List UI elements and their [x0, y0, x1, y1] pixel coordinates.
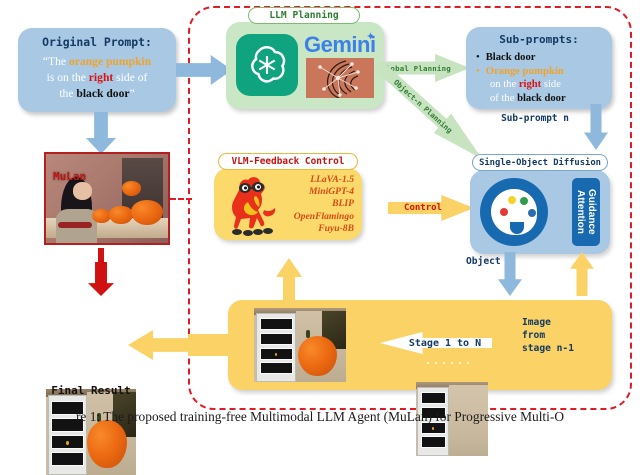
vlm-feedback-panel: LLaVA-1.5 MiniGPT-4 BLIP OpenFlamingo Fu…	[214, 168, 362, 240]
original-prompt-title: Original Prompt:	[18, 35, 176, 49]
door-panel	[48, 395, 88, 475]
sub-prompt-item-2-line2: on the right side	[476, 78, 608, 92]
palette-dot-blue	[528, 209, 536, 217]
image-from-stage-line-1: Image	[522, 316, 574, 329]
paint-palette-icon	[480, 178, 548, 246]
image-from-stage-line-2: from	[522, 329, 574, 342]
mulan-feedback-dashed-link	[170, 198, 192, 200]
sub-prompts-list: • Black door • Orange pumpkin on the rig…	[476, 51, 608, 105]
vlm-model-list: LLaVA-1.5 MiniGPT-4 BLIP OpenFlamingo Fu…	[270, 174, 354, 235]
door-slat	[260, 333, 293, 345]
stage-strip-panel: Stage 1 to N ...... Image from stage n-1	[228, 300, 612, 390]
sub-prompt-item-2-line3: of the black door	[476, 92, 608, 106]
vlm-model-item: LLaVA-1.5	[270, 174, 354, 186]
final-result-image	[46, 389, 136, 475]
sub-prompt-n-label: Sub-prompt n	[480, 113, 590, 124]
sub-prompt-text-2: Orange pumpkin	[486, 65, 564, 79]
palette-dot-green	[520, 197, 528, 205]
figure-caption: re 1: The proposed training-free Multimo…	[0, 409, 640, 425]
figure-canvas: Original Prompt: “The orange pumpkin is …	[0, 0, 640, 428]
stage-to-final-stem	[188, 334, 232, 356]
door-knob	[66, 441, 69, 445]
palette-dot-yellow	[508, 196, 516, 204]
mulan-pumpkin-shelf	[122, 181, 142, 196]
palette-dot-red	[500, 208, 508, 216]
llm-planning-pill: LLM Planning	[248, 7, 360, 24]
image-from-stage-label: Image from stage n-1	[522, 316, 574, 355]
stage-to-final-arrow	[128, 330, 194, 360]
prompt-to-mulan-arrow	[86, 112, 116, 154]
vlm-model-item: BLIP	[270, 198, 354, 210]
original-prompt-card: Original Prompt: “The orange pumpkin is …	[18, 28, 176, 112]
stage-image-with-pumpkin	[254, 308, 346, 382]
vlm-model-item: Fuyu-8B	[270, 223, 354, 235]
sub-prompts-card: Sub-prompts: • Black door • Orange pumpk…	[466, 27, 612, 109]
pumpkin-body	[298, 336, 337, 376]
mulan-label: MuLan	[53, 170, 86, 183]
door-panel	[256, 313, 296, 382]
door-slat	[260, 318, 293, 330]
original-prompt-line-2: is on the right side of	[18, 70, 176, 86]
original-prompt-line-3: the black door”	[18, 86, 176, 102]
gemini-sparkle-icon: ✦	[366, 30, 375, 43]
final-result-label: Final Result	[40, 384, 142, 397]
mulan-sash-shape	[58, 222, 92, 228]
door-slat	[421, 392, 447, 404]
llm-planning-panel: Gemini ✦	[226, 22, 384, 109]
openai-logo-icon	[236, 34, 298, 96]
sub-prompts-title: Sub-prompts:	[466, 33, 612, 46]
single-object-diffusion-panel: Attention Guidance	[470, 170, 610, 254]
sub-prompt-item-1: • Black door	[476, 51, 608, 65]
door-slat	[421, 436, 447, 448]
stage-1-to-n-arrow: Stage 1 to N	[380, 332, 492, 354]
sub-prompt-bullet-2: •	[476, 65, 480, 79]
pumpkin-body	[87, 420, 127, 468]
attention-guidance-line-2: Guidance	[586, 189, 597, 235]
mulan-to-final-arrow	[88, 262, 114, 296]
sub-prompt-bullet-1: •	[476, 51, 480, 65]
vlm-model-item: OpenFlamingo	[270, 211, 354, 223]
original-prompt-text: “The orange pumpkin is on the right side…	[18, 54, 176, 102]
single-object-diffusion-pill: Single-Object Diffusion	[472, 154, 608, 171]
sub-prompt-item-2: • Orange pumpkin	[476, 65, 608, 79]
mulan-image: MuLan	[44, 152, 170, 245]
vlm-feedback-pill: VLM-Feedback Control	[218, 153, 358, 170]
gemini-network-head-icon	[306, 58, 374, 98]
attention-guidance-line-1: Attention	[575, 190, 586, 234]
mulan-pumpkin-mid	[109, 206, 132, 225]
vlm-model-item: MiniGPT-4	[270, 186, 354, 198]
door-slat	[260, 362, 293, 374]
sub-prompt-text-1: Black door	[486, 51, 536, 65]
attention-guidance-box: Attention Guidance	[572, 178, 600, 246]
stage-ellipsis: ......	[404, 356, 494, 367]
gemini-wordmark: Gemini	[304, 32, 376, 58]
image-from-stage-line-3: stage n-1	[522, 342, 574, 355]
original-prompt-line-1: “The orange pumpkin	[18, 54, 176, 70]
door-slat	[51, 452, 83, 466]
